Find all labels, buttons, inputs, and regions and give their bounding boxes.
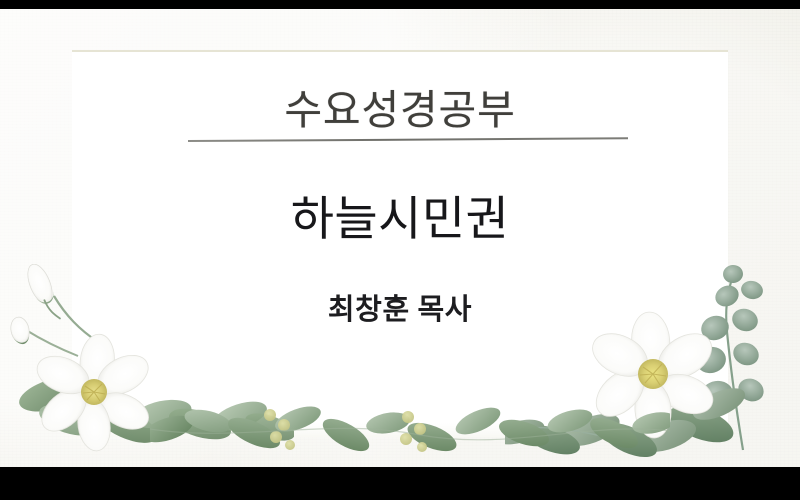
slide-speaker: 최창훈 목사 xyxy=(72,249,728,328)
letterbox-bar-bottom xyxy=(0,467,800,500)
title-text-block: 수요성경공부 하늘시민권 최창훈 목사 xyxy=(72,50,728,328)
slide-headline: 하늘시민권 xyxy=(72,148,728,248)
letterbox-bar-top xyxy=(0,0,800,9)
title-divider xyxy=(72,134,728,148)
slide-canvas: 수요성경공부 하늘시민권 최창훈 목사 xyxy=(0,9,800,467)
divider-rule xyxy=(188,138,628,143)
title-slide: 수요성경공부 하늘시민권 최창훈 목사 xyxy=(0,0,800,500)
slide-kicker: 수요성경공부 xyxy=(72,50,728,134)
